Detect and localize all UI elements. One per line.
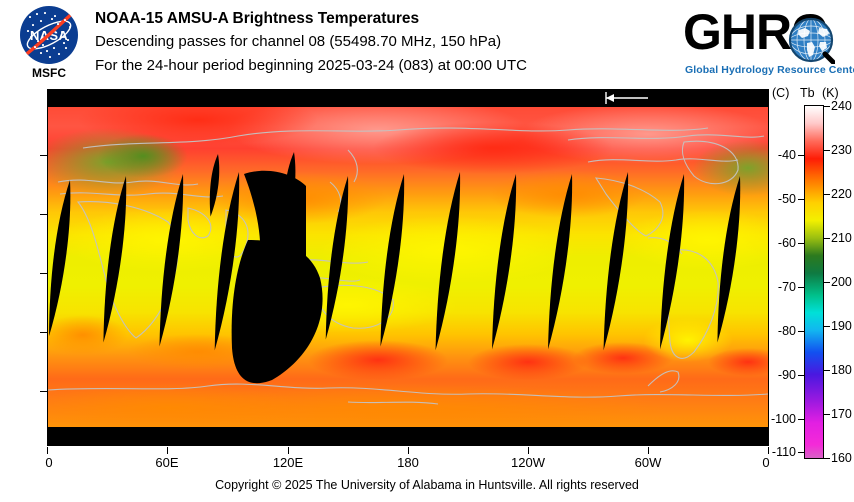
cb-tick-k-170 — [824, 414, 830, 415]
lon-tick-120E — [288, 447, 289, 454]
lon-tick-120W — [528, 447, 529, 454]
nasa-star — [65, 47, 67, 49]
colorbar — [804, 105, 824, 459]
title-period: For the 24-hour period beginning 2025-03… — [95, 54, 527, 78]
colorbar-header-variable: Tb — [800, 86, 815, 100]
title-subtitle: Descending passes for channel 08 (55498.… — [95, 30, 527, 54]
cb-label-k-160: 160 — [831, 451, 852, 465]
cb-label-c-m80: -80 — [766, 324, 796, 338]
lon-label-0: 0 — [45, 455, 52, 470]
lat-tick-60N — [40, 155, 47, 156]
globe-icon — [787, 16, 835, 64]
cb-tick-k-190 — [824, 326, 830, 327]
nasa-star — [37, 40, 39, 42]
nasa-star — [69, 26, 71, 28]
lon-label-60W: 60W — [635, 455, 662, 470]
nasa-star — [44, 12, 46, 14]
nasa-star — [63, 42, 65, 44]
cb-label-c-m60: -60 — [766, 236, 796, 250]
nasa-star — [61, 31, 63, 33]
cb-label-c-m90: -90 — [766, 368, 796, 382]
cb-label-c-m40: -40 — [766, 148, 796, 162]
page-title: NOAA-15 AMSU-A Brightness Temperatures — [95, 8, 527, 30]
nasa-star — [32, 24, 34, 26]
lon-label-60E: 60E — [155, 455, 178, 470]
lon-label-120W: 120W — [511, 455, 545, 470]
cb-label-c-m70: -70 — [766, 280, 796, 294]
cb-tick-k-240 — [824, 106, 830, 107]
colorbar-header-celsius: (C) — [772, 86, 789, 100]
cb-label-k-210: 210 — [831, 231, 852, 245]
cb-tick-c-m60 — [798, 243, 804, 244]
nasa-star — [42, 44, 44, 46]
nasa-star — [46, 50, 48, 52]
nasa-star — [67, 39, 69, 41]
nasa-star — [64, 19, 66, 21]
nasa-star — [49, 56, 51, 58]
cb-label-k-230: 230 — [831, 143, 852, 157]
colorbar-header-kelvin: (K) — [822, 86, 839, 100]
cb-label-k-170: 170 — [831, 407, 852, 421]
nasa-star — [57, 23, 59, 25]
lat-tick-30N — [40, 214, 47, 215]
lat-tick-60S — [40, 391, 47, 392]
cb-label-c-m50: -50 — [766, 192, 796, 206]
nasa-star — [34, 46, 36, 48]
lat-tick-30S — [40, 332, 47, 333]
pass-direction-marker-icon — [604, 92, 650, 104]
cb-label-k-240: 240 — [831, 99, 852, 113]
nasa-ball: NASA — [20, 6, 78, 64]
cb-tick-k-210 — [824, 238, 830, 239]
lon-label-120E: 120E — [273, 455, 303, 470]
ghrc-logo: GHRC Global Hydrology Re — [683, 8, 843, 80]
nasa-star — [54, 15, 56, 17]
map-raster — [48, 90, 768, 445]
nasa-star — [58, 53, 60, 55]
cb-tick-k-230 — [824, 150, 830, 151]
cb-tick-c-m70 — [798, 287, 804, 288]
nasa-star — [30, 36, 32, 38]
nasa-star — [40, 20, 42, 22]
cb-tick-c-m80 — [798, 331, 804, 332]
lon-tick-180 — [408, 447, 409, 454]
cb-label-k-200: 200 — [831, 275, 852, 289]
lat-tick-EQ — [40, 273, 47, 274]
cb-label-c-m110: -110 — [766, 445, 796, 459]
cb-tick-c-m50 — [798, 199, 804, 200]
nasa-star — [53, 47, 55, 49]
nasa-star — [29, 16, 31, 18]
cb-tick-k-220 — [824, 194, 830, 195]
title-block: NOAA-15 AMSU-A Brightness Temperatures D… — [95, 8, 527, 78]
cb-label-k-220: 220 — [831, 187, 852, 201]
brightness-temperature-map — [47, 89, 769, 446]
nasa-star — [36, 13, 38, 15]
lon-tick-60E — [167, 447, 168, 454]
ghrc-tagline: Global Hydrology Resource Center — [685, 64, 854, 76]
cb-label-c-m100: -100 — [766, 412, 796, 426]
lon-tick-60W — [648, 447, 649, 454]
copyright-notice: Copyright © 2025 The University of Alaba… — [0, 478, 854, 492]
cb-tick-c-m40 — [798, 155, 804, 156]
nasa-star — [27, 30, 29, 32]
cb-label-k-180: 180 — [831, 363, 852, 377]
cb-tick-c-m90 — [798, 375, 804, 376]
nasa-meatball-icon: NASA MSFC — [12, 6, 84, 84]
cb-tick-c-m110 — [798, 452, 804, 453]
lon-tick-0 — [47, 447, 48, 454]
nasa-center-label: MSFC — [12, 66, 86, 80]
cb-tick-k-200 — [824, 282, 830, 283]
cb-tick-k-160 — [824, 458, 830, 459]
nasa-star — [51, 18, 53, 20]
cb-tick-c-m100 — [798, 419, 804, 420]
lon-label-180: 180 — [397, 455, 419, 470]
cb-tick-k-180 — [824, 370, 830, 371]
cb-label-k-190: 190 — [831, 319, 852, 333]
nasa-star — [40, 52, 42, 54]
header: NASA MSFC NOAA-15 AMSU-A Brightness Temp… — [0, 0, 854, 88]
